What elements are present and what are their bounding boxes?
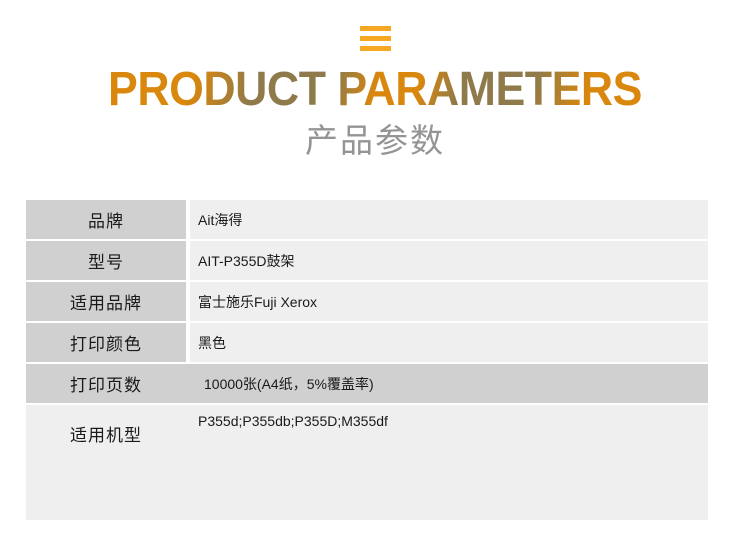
table-row: 打印颜色 黑色 — [26, 323, 708, 362]
page-header: PRODUCT PARAMETERS 产品参数 — [0, 0, 750, 161]
spec-label: 品牌 — [26, 200, 186, 239]
page-title-en: PRODUCT PARAMETERS — [26, 65, 724, 115]
page-title-cn: 产品参数 — [0, 121, 750, 161]
spec-value: P355d;P355db;P355D;M355df — [190, 405, 708, 520]
hamburger-bar-3 — [360, 46, 391, 51]
product-parameters-table: 品牌 Ait海得 型号 AIT-P355D鼓架 适用品牌 富士施乐Fuji Xe… — [26, 200, 708, 520]
spec-value: 黑色 — [190, 323, 708, 362]
spec-label: 适用机型 — [26, 405, 186, 520]
spec-value: AIT-P355D鼓架 — [190, 241, 708, 280]
spec-value: Ait海得 — [190, 200, 708, 239]
table-row: 适用机型 P355d;P355db;P355D;M355df — [26, 405, 708, 520]
spec-value: 10000张(A4纸，5%覆盖率) — [190, 364, 708, 403]
spec-label: 适用品牌 — [26, 282, 186, 321]
spec-label: 打印颜色 — [26, 323, 186, 362]
spec-label: 型号 — [26, 241, 186, 280]
hamburger-bar-2 — [360, 36, 391, 41]
table-row: 型号 AIT-P355D鼓架 — [26, 241, 708, 280]
hamburger-icon — [360, 26, 391, 51]
table-row: 打印页数 10000张(A4纸，5%覆盖率) — [26, 364, 708, 403]
spec-value: 富士施乐Fuji Xerox — [190, 282, 708, 321]
table-row: 品牌 Ait海得 — [26, 200, 708, 239]
table-row: 适用品牌 富士施乐Fuji Xerox — [26, 282, 708, 321]
spec-label: 打印页数 — [26, 364, 186, 403]
hamburger-bar-1 — [360, 26, 391, 31]
